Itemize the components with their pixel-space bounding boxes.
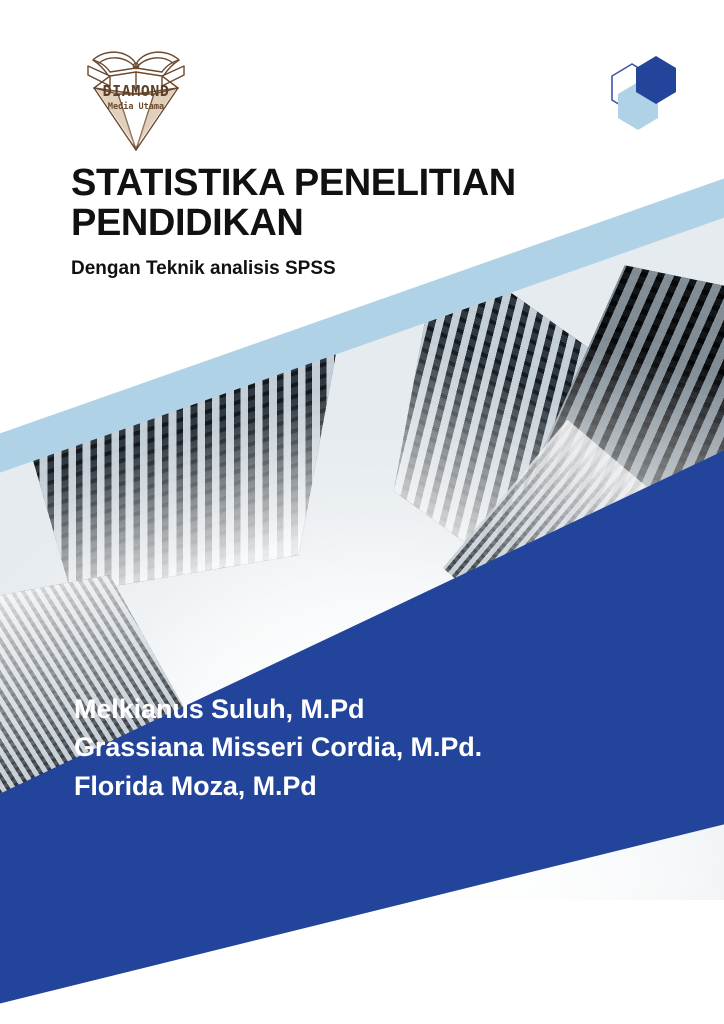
title-block: STATISTIKA PENELITIAN PENDIDIKAN Dengan … (71, 163, 631, 280)
author-name: Melkianus Suluh, M.Pd (74, 690, 674, 728)
title-line-2: PENDIDIKAN (71, 203, 631, 243)
publisher-wordmark: DIAMOND (66, 84, 206, 99)
subtitle: Dengan Teknik analisis SPSS (71, 258, 631, 280)
title-line-1: STATISTIKA PENELITIAN (71, 163, 631, 203)
hexagon-cluster-icon (598, 48, 690, 148)
author-name: Florida Moza, M.Pd (74, 767, 674, 805)
author-list: Melkianus Suluh, M.Pd Grassiana Misseri … (74, 690, 674, 805)
publisher-logo: DIAMOND Media Utama (66, 42, 206, 154)
hexagon-cluster-mark (598, 48, 690, 148)
book-cover: DIAMOND Media Utama STATISTIKA PENELITIA… (0, 0, 724, 1024)
publisher-tagline: Media Utama (66, 103, 206, 112)
author-name: Grassiana Misseri Cordia, M.Pd. (74, 728, 674, 766)
